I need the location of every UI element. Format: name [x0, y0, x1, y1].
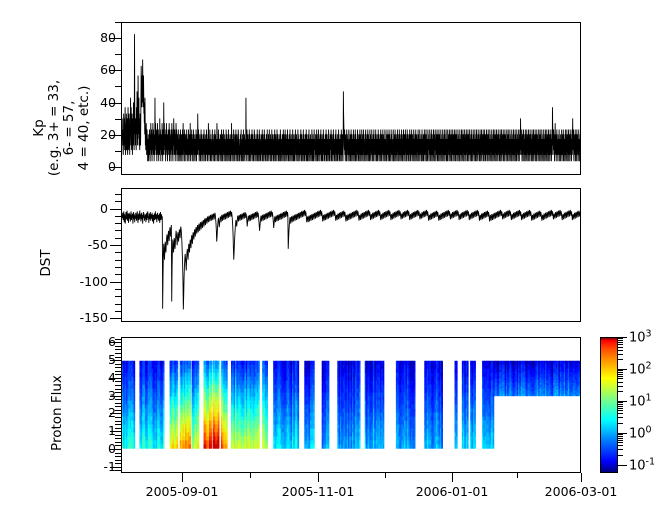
spectrogram-cell	[226, 381, 228, 385]
spectrogram-cell	[359, 381, 361, 385]
spectrogram-cell	[467, 417, 469, 421]
spectrogram-cell	[226, 420, 228, 424]
spectrogram-cell	[197, 409, 199, 413]
spectrogram-cell	[493, 409, 495, 413]
spectrogram-cell	[134, 385, 136, 389]
kp-line	[122, 34, 580, 161]
spectrogram-cell	[134, 377, 136, 381]
spectrogram-cell	[177, 397, 179, 401]
spectrogram-cell	[359, 377, 361, 381]
spectrogram-cell	[134, 365, 136, 369]
spectrogram-cell	[474, 369, 476, 373]
dst-ytick-minor	[115, 252, 121, 253]
spectrogram-cell	[313, 373, 315, 377]
spectrogram-cell	[297, 393, 299, 397]
spectrogram-cell	[467, 424, 469, 428]
kp-ytick-major	[110, 38, 121, 39]
spectrogram-cell	[258, 377, 260, 381]
spectrogram-cell	[177, 436, 179, 440]
dst-ytick-minor	[115, 274, 121, 275]
spectrogram-cell	[328, 424, 330, 428]
dst-ytick-minor	[115, 238, 121, 239]
spectrogram-cell	[210, 428, 212, 432]
spectrogram-cell	[297, 428, 299, 432]
kp-plot-panel	[121, 22, 581, 175]
spectrogram-cell	[414, 436, 416, 440]
spectrogram-cell	[189, 444, 191, 448]
spectrogram-cell	[218, 389, 220, 393]
spectrogram-cell	[266, 393, 268, 397]
spectrogram-cell	[456, 444, 458, 448]
dst-ytick-minor	[115, 194, 121, 195]
spectrogram-cell	[226, 365, 228, 369]
spectrogram-cell	[177, 393, 179, 397]
spectrogram-cell	[359, 365, 361, 369]
spectrogram-cell	[297, 401, 299, 405]
spectrogram-cell	[414, 381, 416, 385]
spectrogram-cell	[297, 369, 299, 373]
spectrogram-cell	[197, 389, 199, 393]
spectrogram-cell	[197, 365, 199, 369]
spectrogram-cell	[226, 436, 228, 440]
kp-ytick-minor	[115, 119, 121, 120]
spectrogram-cell	[328, 385, 330, 389]
spectrogram-cell	[456, 361, 458, 365]
spectrogram-cell	[226, 361, 228, 365]
spectrogram-cell	[441, 365, 443, 369]
spectrogram-cell	[297, 365, 299, 369]
spectrogram-cell	[226, 393, 228, 397]
spectrogram-cell	[359, 432, 361, 436]
spectrogram-cell	[134, 393, 136, 397]
spectrogram-cell	[328, 381, 330, 385]
spectrogram-cell	[210, 444, 212, 448]
spectrogram-cell	[177, 381, 179, 385]
spectrogram-cell	[493, 440, 495, 444]
spectrogram-cell	[414, 365, 416, 369]
spectrogram-cell	[414, 361, 416, 365]
proton-flux-panel	[121, 337, 581, 473]
spectrogram-cell	[297, 381, 299, 385]
spectrogram-cell	[383, 413, 385, 417]
spectrogram-cell	[328, 405, 330, 409]
spectrogram-cell	[414, 409, 416, 413]
spectrogram-cell	[441, 385, 443, 389]
spectrogram-cell	[383, 389, 385, 393]
spectrogram-cell	[493, 428, 495, 432]
spectrogram-cell	[177, 405, 179, 409]
spectrogram-cell	[226, 424, 228, 428]
spectrogram-cell	[383, 420, 385, 424]
spectrogram-cell	[456, 409, 458, 413]
spectrogram-cell	[328, 369, 330, 373]
spectrogram-cell	[258, 393, 260, 397]
spectrogram-cell	[226, 389, 228, 393]
spectrogram-cell	[266, 417, 268, 421]
dst-ytick-minor	[115, 230, 121, 231]
spectrogram-cell	[456, 401, 458, 405]
spectrogram-cell	[414, 424, 416, 428]
spectrogram-cell	[328, 436, 330, 440]
spectrogram-cell	[197, 373, 199, 377]
spectrogram-cell	[266, 428, 268, 432]
spectrogram-cell	[218, 373, 220, 377]
spectrogram-cell	[210, 397, 212, 401]
spectrogram-cell	[189, 393, 191, 397]
spectrogram-cell	[383, 369, 385, 373]
spectrogram-cell	[163, 444, 165, 448]
spectrogram-cell	[297, 424, 299, 428]
spectrogram-cell	[297, 440, 299, 444]
spectrogram-cell	[134, 417, 136, 421]
spectrogram-cell	[467, 436, 469, 440]
spectrogram-cell	[297, 389, 299, 393]
spectrogram-cell	[313, 401, 315, 405]
spectrogram-cell	[218, 436, 220, 440]
spectrogram-cell	[258, 413, 260, 417]
dst-ytick-minor	[115, 201, 121, 202]
spectrogram-cell	[456, 389, 458, 393]
spectrogram-cell	[210, 432, 212, 436]
spectrogram-cell	[258, 409, 260, 413]
spectrogram-cell	[313, 440, 315, 444]
spectrogram-cell	[328, 401, 330, 405]
spectrogram-cell	[226, 428, 228, 432]
spectrogram-cell	[383, 428, 385, 432]
spectrogram-cell	[218, 405, 220, 409]
spectrogram-cell	[210, 409, 212, 413]
spectrogram-cell	[474, 393, 476, 397]
spectrogram-cell	[177, 428, 179, 432]
spectrogram-cell	[441, 413, 443, 417]
spectrogram-cell	[467, 401, 469, 405]
spectrogram-cell	[189, 420, 191, 424]
spectrogram-cell	[197, 369, 199, 373]
kp-axis-title: Kp (e.g. 3+ = 33, 6- = 57, 4 = 40, etc.)	[32, 48, 92, 208]
spectrogram-cell	[177, 365, 179, 369]
spectrogram-cell	[197, 440, 199, 444]
spectrogram-cell	[456, 377, 458, 381]
spectrogram-cell	[163, 432, 165, 436]
spectrogram-cell	[441, 428, 443, 432]
spectrogram-cell	[134, 397, 136, 401]
spectrogram-cell	[383, 417, 385, 421]
spectrogram-cell	[328, 397, 330, 401]
spectrogram-cell	[414, 393, 416, 397]
spectrogram-cell	[163, 401, 165, 405]
dst-series-plot	[122, 189, 580, 321]
spectrogram-cell	[218, 428, 220, 432]
spectrogram-cell	[177, 401, 179, 405]
kp-ytick-minor	[115, 54, 121, 55]
spectrogram-cell	[266, 397, 268, 401]
spectrogram-cell	[474, 432, 476, 436]
spectrogram-cell	[441, 377, 443, 381]
spectrogram-cell	[177, 444, 179, 448]
spectrogram-cell	[313, 365, 315, 369]
spectrogram-cell	[467, 444, 469, 448]
spectrogram-cell	[197, 405, 199, 409]
kp-axis-title-line2: 6- = 57,	[62, 48, 77, 208]
spectrogram-cell	[414, 417, 416, 421]
kp-ytick-major	[110, 167, 121, 168]
spectrogram-cell	[441, 389, 443, 393]
spectrogram-cell	[226, 401, 228, 405]
spectrogram-cell	[163, 420, 165, 424]
spectrogram-cell	[474, 409, 476, 413]
spectrogram-cell	[258, 420, 260, 424]
spectrogram-cell	[218, 409, 220, 413]
spectrogram-cell	[359, 393, 361, 397]
spectrogram-cell	[383, 397, 385, 401]
spectrogram-cell	[189, 385, 191, 389]
spectrogram-cell	[197, 361, 199, 365]
spectrogram-cell	[177, 417, 179, 421]
spectrogram-cell	[359, 369, 361, 373]
spectrogram-cell	[197, 385, 199, 389]
spectrogram-cell	[474, 389, 476, 393]
spectrogram-cell	[456, 369, 458, 373]
spectrogram-cell	[441, 420, 443, 424]
spectrogram-cell	[467, 373, 469, 377]
spectrogram-cell	[218, 420, 220, 424]
dst-ytick-major	[110, 318, 121, 319]
spectrogram-cell	[383, 424, 385, 428]
spectrogram-cell	[493, 432, 495, 436]
spectrogram-cell	[313, 413, 315, 417]
spectrogram-cell	[328, 432, 330, 436]
spectrogram-cell	[258, 444, 260, 448]
spectrogram-cell	[197, 393, 199, 397]
spectrogram-cell	[226, 373, 228, 377]
spectrogram-cell	[456, 413, 458, 417]
spectrogram-cell	[218, 417, 220, 421]
spectrogram-cell	[467, 381, 469, 385]
spectrogram-cell	[210, 373, 212, 377]
spectrogram-cell	[218, 440, 220, 444]
spectrogram-cell	[177, 424, 179, 428]
spectrogram-cell	[359, 405, 361, 409]
spectrogram-cell	[197, 432, 199, 436]
spectrogram-cell	[456, 385, 458, 389]
spectrogram-cell	[313, 381, 315, 385]
spectrogram-cell	[414, 405, 416, 409]
kp-ytick-major	[110, 135, 121, 136]
spectrogram-cell	[258, 428, 260, 432]
dst-line	[122, 210, 580, 310]
spectrogram-cell	[313, 405, 315, 409]
spectrogram-cell	[210, 440, 212, 444]
spectrogram-cell	[297, 405, 299, 409]
spectrogram-cell	[456, 373, 458, 377]
spectrogram-cell	[441, 409, 443, 413]
spectrogram-cell	[493, 397, 495, 401]
spectrogram-cell	[313, 377, 315, 381]
spectrogram-cell	[177, 413, 179, 417]
spectrogram-cell	[134, 440, 136, 444]
spectrogram-cell	[163, 369, 165, 373]
spectrogram-cell	[197, 444, 199, 448]
spectrogram-cell	[163, 373, 165, 377]
spectrogram-cell	[467, 369, 469, 373]
spectrogram-cell	[474, 417, 476, 421]
spectrogram-cell	[210, 413, 212, 417]
spectrogram-cell	[474, 377, 476, 381]
kp-axis-title-line3: 4 = 40, etc.)	[77, 48, 92, 208]
kp-ytick-minor	[115, 151, 121, 152]
spectrogram-cell	[493, 420, 495, 424]
spectrogram-cell	[197, 420, 199, 424]
spectrogram-cell	[177, 440, 179, 444]
spectrogram-cell	[197, 436, 199, 440]
spectrogram-cell	[441, 401, 443, 405]
spectrogram-cell	[328, 389, 330, 393]
spectrogram-cell	[383, 381, 385, 385]
spectrogram-cell	[218, 365, 220, 369]
spectrogram-cell	[359, 361, 361, 365]
kp-series-plot	[122, 23, 580, 174]
spectrogram-cell	[441, 436, 443, 440]
spectrogram-cell	[414, 389, 416, 393]
dst-plot-panel	[121, 188, 581, 322]
spectrogram-cell	[456, 436, 458, 440]
spectrogram-cell	[210, 417, 212, 421]
spectrogram-cell	[441, 440, 443, 444]
spectrogram-cell	[266, 432, 268, 436]
spectrogram-cell	[177, 389, 179, 393]
spectrogram-cell	[383, 444, 385, 448]
spectrogram-cell	[474, 361, 476, 365]
spectrogram-cell	[210, 393, 212, 397]
spectrogram-cell	[189, 377, 191, 381]
spectrogram-cell	[414, 428, 416, 432]
spectrogram-cell	[163, 381, 165, 385]
spectrogram-cell	[210, 436, 212, 440]
spectrogram-cell	[197, 397, 199, 401]
spectrogram-cell	[383, 440, 385, 444]
spectrogram-cell	[163, 424, 165, 428]
dst-ytick-major	[110, 245, 121, 246]
spectrogram-cell	[177, 369, 179, 373]
spectrogram-cell	[359, 397, 361, 401]
spectrogram-cell	[134, 405, 136, 409]
spectrogram-cell	[467, 409, 469, 413]
spectrogram-cell	[297, 420, 299, 424]
spectrogram-cell	[414, 385, 416, 389]
spectrogram-cell	[441, 424, 443, 428]
spectrogram-cell	[441, 361, 443, 365]
spectrogram-cell	[328, 444, 330, 448]
kp-axis-title-main: Kp	[32, 48, 47, 208]
spectrogram-cell	[328, 361, 330, 365]
spectrogram-cell	[328, 420, 330, 424]
spectrogram-cell	[456, 365, 458, 369]
spectrogram-cell	[297, 409, 299, 413]
spectrogram-cell	[189, 436, 191, 440]
spectrogram-cell	[383, 365, 385, 369]
spectrogram-cell	[414, 440, 416, 444]
spectrogram-cell	[441, 417, 443, 421]
spectrogram-cell	[383, 432, 385, 436]
spectrogram-cell	[441, 393, 443, 397]
spectrogram-cell	[441, 373, 443, 377]
spectrogram-cell	[226, 413, 228, 417]
spectrogram-cell	[467, 432, 469, 436]
spectrogram-cell	[414, 369, 416, 373]
spectrogram-cell	[297, 397, 299, 401]
spectrogram-cell	[493, 417, 495, 421]
spectrogram-cell	[189, 397, 191, 401]
spectrogram-cell	[266, 424, 268, 428]
dst-ytick-label: -100	[80, 275, 108, 288]
spectrogram-cell	[266, 440, 268, 444]
spectrogram-cell	[210, 377, 212, 381]
spectrogram-cell	[297, 417, 299, 421]
spectrogram-cell	[467, 428, 469, 432]
spectrogram-cell	[226, 417, 228, 421]
spectrogram-cell	[297, 377, 299, 381]
spectrogram-cell	[163, 436, 165, 440]
spectrogram-cell	[474, 420, 476, 424]
spectrogram-cell	[134, 413, 136, 417]
spectrogram-cell	[441, 444, 443, 448]
spectrogram-cell	[258, 440, 260, 444]
spectrogram-cell	[197, 428, 199, 432]
spectrogram-cell	[493, 405, 495, 409]
spectrogram-cell	[383, 401, 385, 405]
spectrogram-cell	[258, 401, 260, 405]
spectrogram-cell	[258, 397, 260, 401]
spectrogram-cell	[313, 424, 315, 428]
spectrogram-cell	[197, 401, 199, 405]
spectrogram-cell	[163, 413, 165, 417]
spectrogram-cell	[313, 369, 315, 373]
spectrogram-cell	[189, 409, 191, 413]
spectrogram-cell	[383, 385, 385, 389]
spectrogram-cell	[297, 361, 299, 365]
spectrogram-cell	[218, 413, 220, 417]
spectrogram-cell	[414, 377, 416, 381]
spectrogram-cell	[258, 436, 260, 440]
spectrogram-cell	[359, 424, 361, 428]
spectrogram-cell	[163, 385, 165, 389]
spectrogram-cell	[467, 413, 469, 417]
spectrogram-cell	[328, 428, 330, 432]
spectrogram-cell	[134, 409, 136, 413]
spectrogram-cell	[163, 361, 165, 365]
spectrogram-cell	[163, 428, 165, 432]
spectrogram-cell	[414, 413, 416, 417]
spectrogram-cell	[210, 405, 212, 409]
proton-flux-spectrogram	[122, 338, 580, 472]
spectrogram-cell	[467, 389, 469, 393]
spectrogram-cell	[313, 428, 315, 432]
spectrogram-cell	[210, 381, 212, 385]
spectrogram-cell	[258, 373, 260, 377]
spectrogram-cell	[456, 405, 458, 409]
spectrogram-cell	[258, 424, 260, 428]
spectrogram-cell	[189, 440, 191, 444]
spectrogram-cell	[313, 385, 315, 389]
dst-ytick-minor	[115, 223, 121, 224]
spectrogram-cell	[134, 432, 136, 436]
spectrogram-cell	[134, 361, 136, 365]
spectrogram-cell	[218, 369, 220, 373]
spectrogram-cell	[189, 369, 191, 373]
spectrogram-cell	[266, 436, 268, 440]
spectrogram-cell	[313, 393, 315, 397]
dst-ytick-label: -50	[88, 239, 108, 252]
